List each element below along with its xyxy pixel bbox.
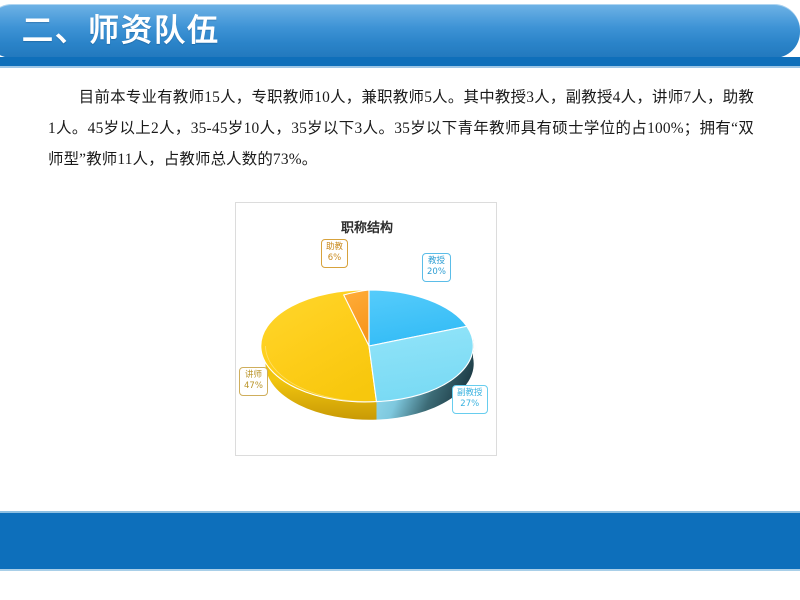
pie-label-jiaoshou-value: 20% bbox=[427, 267, 446, 278]
pie-label-jiaoshou-name: 教授 bbox=[427, 256, 446, 267]
pie-label-fujiaoshou-name: 副教授 bbox=[457, 388, 483, 399]
pie-label-fujiaoshou-value: 27% bbox=[457, 399, 483, 410]
pie-label-jiaoshou[interactable]: 教授 20% bbox=[422, 253, 451, 282]
pie-label-jiangshi-name: 讲师 bbox=[244, 370, 263, 381]
pie-chart-graphic bbox=[236, 203, 498, 457]
pie-label-zhujiao[interactable]: 助教 6% bbox=[321, 239, 348, 268]
body-paragraph: 目前本专业有教师15人，专职教师10人，兼职教师5人。其中教授3人，副教授4人，… bbox=[48, 82, 754, 175]
pie-label-zhujiao-name: 助教 bbox=[326, 242, 343, 253]
slide-header: 二、师资队伍 bbox=[0, 0, 800, 70]
slide-canvas: 二、师资队伍 目前本专业有教师15人，专职教师10人，兼职教师5人。其中教授3人… bbox=[0, 0, 800, 600]
pie-label-jiangshi[interactable]: 讲师 47% bbox=[239, 367, 268, 396]
header-underline-edge bbox=[0, 66, 800, 68]
pie-label-zhujiao-value: 6% bbox=[326, 253, 343, 264]
pie-chart-card: 职称结构 bbox=[235, 202, 497, 456]
pie-label-jiangshi-value: 47% bbox=[244, 381, 263, 392]
footer-band-bottom-edge bbox=[0, 569, 800, 571]
pie-label-fujiaoshou[interactable]: 副教授 27% bbox=[452, 385, 488, 414]
page-title: 二、师资队伍 bbox=[22, 8, 220, 54]
footer-band bbox=[0, 513, 800, 569]
